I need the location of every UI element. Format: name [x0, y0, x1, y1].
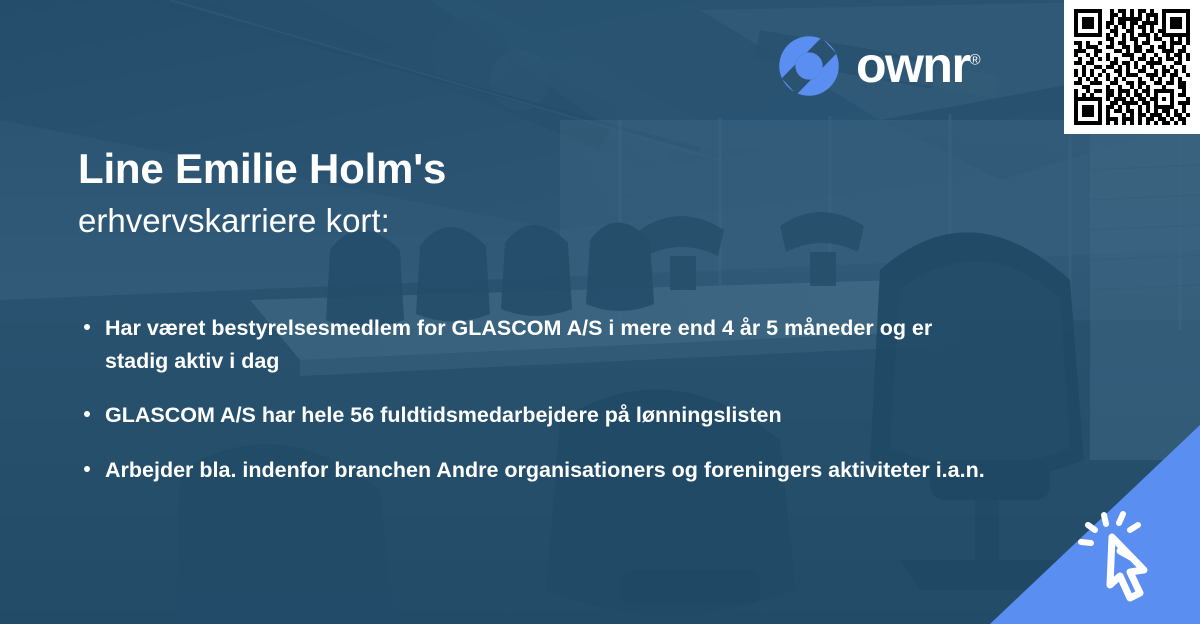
list-item: GLASCOM A/S har hele 56 fuldtidsmedarbej…	[80, 399, 1000, 432]
list-item-text: Arbejder bla. indenfor branchen Andre or…	[105, 458, 985, 482]
list-item: Har været bestyrelsesmedlem for GLASCOM …	[80, 312, 1000, 377]
qr-code-icon	[1074, 9, 1190, 125]
page-title: Line Emilie Holm's	[78, 148, 978, 190]
ownr-wordmark: ownr®	[856, 40, 981, 90]
registered-trademark-symbol: ®	[969, 51, 980, 68]
ownr-logo[interactable]: ownr®	[778, 35, 981, 97]
qr-code-panel[interactable]	[1064, 0, 1200, 134]
bullet-dot-icon	[84, 324, 90, 330]
list-item-text: GLASCOM A/S har hele 56 fuldtidsmedarbej…	[105, 403, 782, 427]
bullet-dot-icon	[84, 411, 90, 417]
wordmark-text: ownr	[856, 37, 969, 93]
list-item: Arbejder bla. indenfor branchen Andre or…	[80, 454, 1000, 487]
list-item-text: Har været bestyrelsesmedlem for GLASCOM …	[105, 316, 932, 373]
fact-list: Har været bestyrelsesmedlem for GLASCOM …	[80, 312, 1000, 509]
page-subtitle: erhvervskarriere kort:	[78, 204, 978, 237]
business-career-card: Line Emilie Holm's erhvervskarriere kort…	[0, 0, 1200, 624]
bullet-dot-icon	[84, 466, 90, 472]
ownr-circle-swirl-icon	[778, 35, 840, 97]
heading-block: Line Emilie Holm's erhvervskarriere kort…	[78, 148, 978, 237]
